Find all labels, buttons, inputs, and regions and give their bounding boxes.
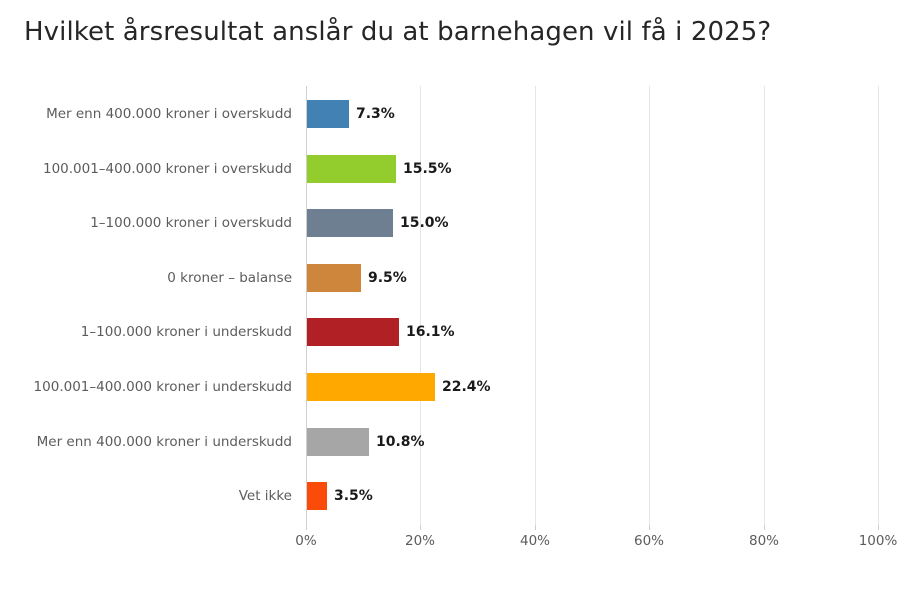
x-tick-label: 40% (520, 533, 550, 549)
category-label: 1–100.000 kroner i overskudd (90, 209, 292, 237)
bar-row: Mer enn 400.000 kroner i overskudd7.3% (306, 100, 878, 128)
category-label: 1–100.000 kroner i underskudd (81, 318, 292, 346)
bar-row: 1–100.000 kroner i underskudd16.1% (306, 318, 878, 346)
x-tick-label: 0% (295, 533, 316, 549)
bar-row: 0 kroner – balanse9.5% (306, 264, 878, 292)
category-label: Mer enn 400.000 kroner i underskudd (37, 428, 292, 456)
x-tick-label: 100% (859, 533, 898, 549)
x-tick-mark (420, 525, 421, 530)
bar-row: Vet ikke3.5% (306, 482, 878, 510)
bar-value-label: 22.4% (442, 373, 491, 401)
gridline-20 (420, 86, 421, 525)
gridline-60 (649, 86, 650, 525)
axis-line-zero (306, 86, 307, 525)
bar-value-label: 15.0% (400, 209, 449, 237)
x-tick-mark (649, 525, 650, 530)
gridline-80 (764, 86, 765, 525)
bar-value-label: 10.8% (376, 428, 425, 456)
x-tick-mark (306, 525, 307, 530)
x-tick-mark (764, 525, 765, 530)
plot-area: Mer enn 400.000 kroner i overskudd7.3%10… (306, 86, 878, 525)
bar-value-label: 7.3% (356, 100, 395, 128)
bar-value-label: 15.5% (403, 155, 452, 183)
x-tick-mark (878, 525, 879, 530)
bar[interactable] (307, 318, 399, 346)
x-axis: 0%20%40%60%80%100% (306, 525, 878, 555)
bar-row: 100.001–400.000 kroner i overskudd15.5% (306, 155, 878, 183)
gridline-100 (878, 86, 879, 525)
x-tick-label: 60% (634, 533, 664, 549)
x-tick-label: 80% (749, 533, 779, 549)
bar-value-label: 3.5% (334, 482, 373, 510)
x-tick-mark (535, 525, 536, 530)
x-tick-label: 20% (405, 533, 435, 549)
category-label: 100.001–400.000 kroner i overskudd (43, 155, 292, 183)
chart-title: Hvilket årsresultat anslår du at barneha… (24, 16, 884, 48)
bar[interactable] (307, 264, 361, 292)
bar-row: Mer enn 400.000 kroner i underskudd10.8% (306, 428, 878, 456)
bar[interactable] (307, 209, 393, 237)
category-label: 100.001–400.000 kroner i underskudd (34, 373, 292, 401)
chart-container: Hvilket årsresultat anslår du at barneha… (0, 0, 905, 609)
bar[interactable] (307, 482, 327, 510)
bar[interactable] (307, 373, 435, 401)
category-label: 0 kroner – balanse (167, 264, 292, 292)
category-label: Mer enn 400.000 kroner i overskudd (46, 100, 292, 128)
bar-value-label: 9.5% (368, 264, 407, 292)
bar-row: 100.001–400.000 kroner i underskudd22.4% (306, 373, 878, 401)
bar[interactable] (307, 155, 396, 183)
bar[interactable] (307, 428, 369, 456)
bar-row: 1–100.000 kroner i overskudd15.0% (306, 209, 878, 237)
bar-value-label: 16.1% (406, 318, 455, 346)
category-label: Vet ikke (239, 482, 292, 510)
bar[interactable] (307, 100, 349, 128)
gridline-40 (535, 86, 536, 525)
